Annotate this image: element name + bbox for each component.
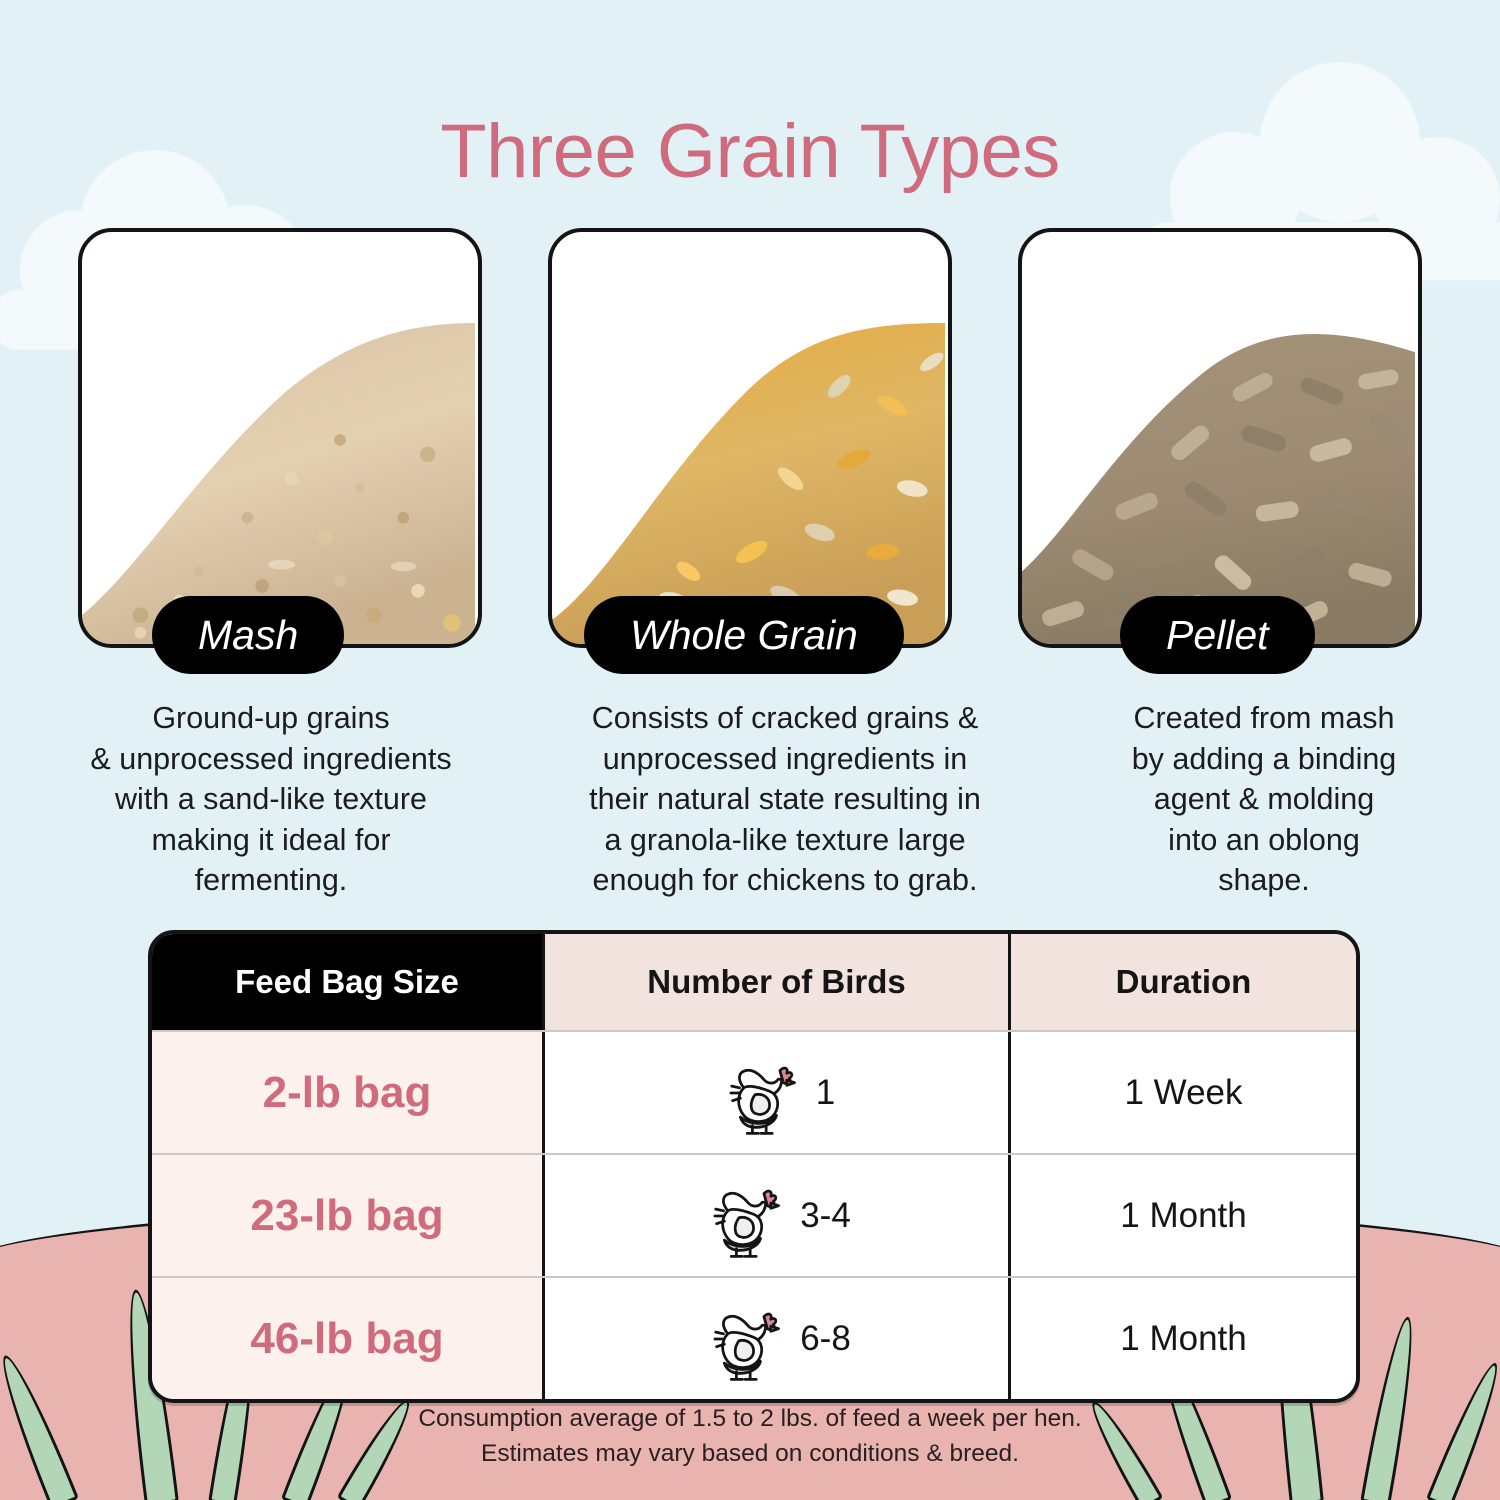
chicken-icon xyxy=(718,1050,804,1136)
grain-card-pellet[interactable] xyxy=(1018,228,1422,648)
cell-bag-size: 2-lb bag xyxy=(152,1032,542,1153)
card-badge-mash: Mash xyxy=(152,596,344,674)
grain-card-whole-grain[interactable] xyxy=(548,228,952,648)
table-row: 23-lb bag 3-4 1 Month xyxy=(152,1153,1356,1276)
birds-count: 3-4 xyxy=(800,1196,851,1236)
table-header-row: Feed Bag Size Number of Birds Duration xyxy=(152,934,1356,1030)
table-row: 46-lb bag 6-8 1 Month xyxy=(152,1276,1356,1399)
description-mash: Ground-up grains & unprocessed ingredien… xyxy=(56,698,486,901)
chicken-icon xyxy=(702,1173,788,1259)
card-badge-whole-grain: Whole Grain xyxy=(584,596,904,674)
card-badge-pellet: Pellet xyxy=(1120,596,1315,674)
cell-duration: 1 Month xyxy=(1008,1155,1356,1276)
table-row: 2-lb bag 1 1 Week xyxy=(152,1030,1356,1153)
description-row: Ground-up grains & unprocessed ingredien… xyxy=(56,698,1444,901)
birds-count: 1 xyxy=(816,1073,835,1113)
page-title: Three Grain Types xyxy=(0,108,1500,195)
cell-birds: 3-4 xyxy=(542,1155,1008,1276)
cell-bag-size: 23-lb bag xyxy=(152,1155,542,1276)
description-whole-grain: Consists of cracked grains & unprocessed… xyxy=(550,698,1020,901)
header-duration: Duration xyxy=(1008,934,1356,1030)
feed-bag-table: Feed Bag Size Number of Birds Duration 2… xyxy=(148,930,1360,1403)
cell-duration: 1 Month xyxy=(1008,1278,1356,1399)
header-number-of-birds: Number of Birds xyxy=(542,934,1008,1030)
footnote: Consumption average of 1.5 to 2 lbs. of … xyxy=(0,1402,1500,1472)
birds-count: 6-8 xyxy=(800,1319,851,1359)
chicken-icon xyxy=(702,1296,788,1382)
grain-card-row xyxy=(78,228,1422,648)
cell-bag-size: 46-lb bag xyxy=(152,1278,542,1399)
cell-birds: 6-8 xyxy=(542,1278,1008,1399)
description-pellet: Created from mash by adding a binding ag… xyxy=(1084,698,1444,901)
cell-duration: 1 Week xyxy=(1008,1032,1356,1153)
cell-birds: 1 xyxy=(542,1032,1008,1153)
header-feed-bag-size: Feed Bag Size xyxy=(152,934,542,1030)
infographic-root: Three Grain Types xyxy=(0,0,1500,1500)
grain-card-mash[interactable] xyxy=(78,228,482,648)
